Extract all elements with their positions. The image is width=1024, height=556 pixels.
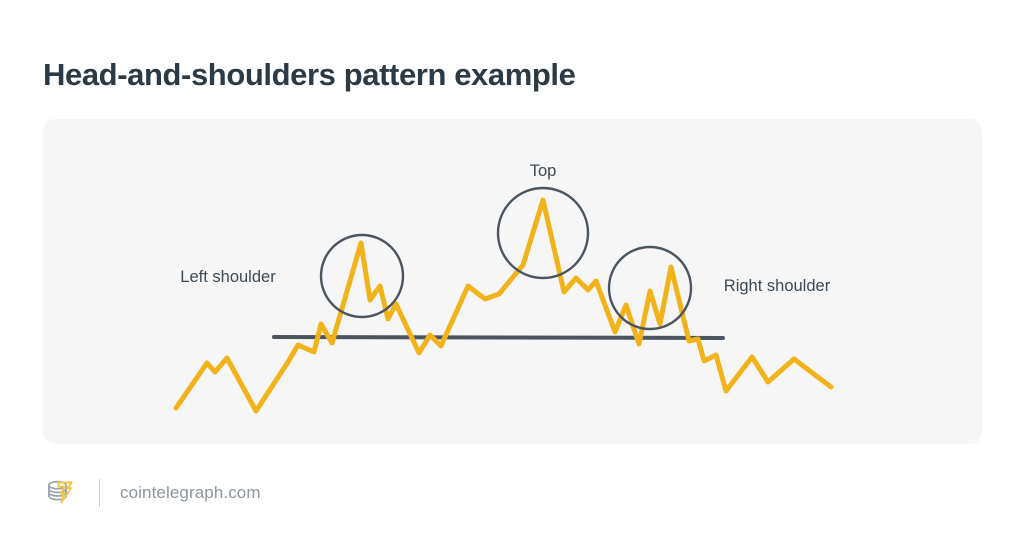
left-shoulder-label: Left shoulder bbox=[180, 268, 276, 286]
page-root: Head-and-shoulders pattern example Left … bbox=[0, 0, 1024, 556]
footer-site-label: cointelegraph.com bbox=[120, 483, 261, 503]
footer: cointelegraph.com bbox=[43, 473, 261, 513]
head-top-label: Top bbox=[530, 162, 557, 180]
right-shoulder-label: Right shoulder bbox=[724, 277, 831, 295]
footer-divider bbox=[99, 479, 100, 507]
right-shoulder-circle bbox=[609, 247, 691, 329]
head-and-shoulders-chart: Left shoulder Top Right shoulder bbox=[43, 119, 982, 444]
chart-card: Left shoulder Top Right shoulder bbox=[43, 119, 982, 444]
page-title: Head-and-shoulders pattern example bbox=[43, 57, 575, 93]
neckline bbox=[274, 337, 723, 338]
cointelegraph-coins-bolt-icon bbox=[43, 476, 77, 510]
price-line bbox=[176, 200, 831, 411]
